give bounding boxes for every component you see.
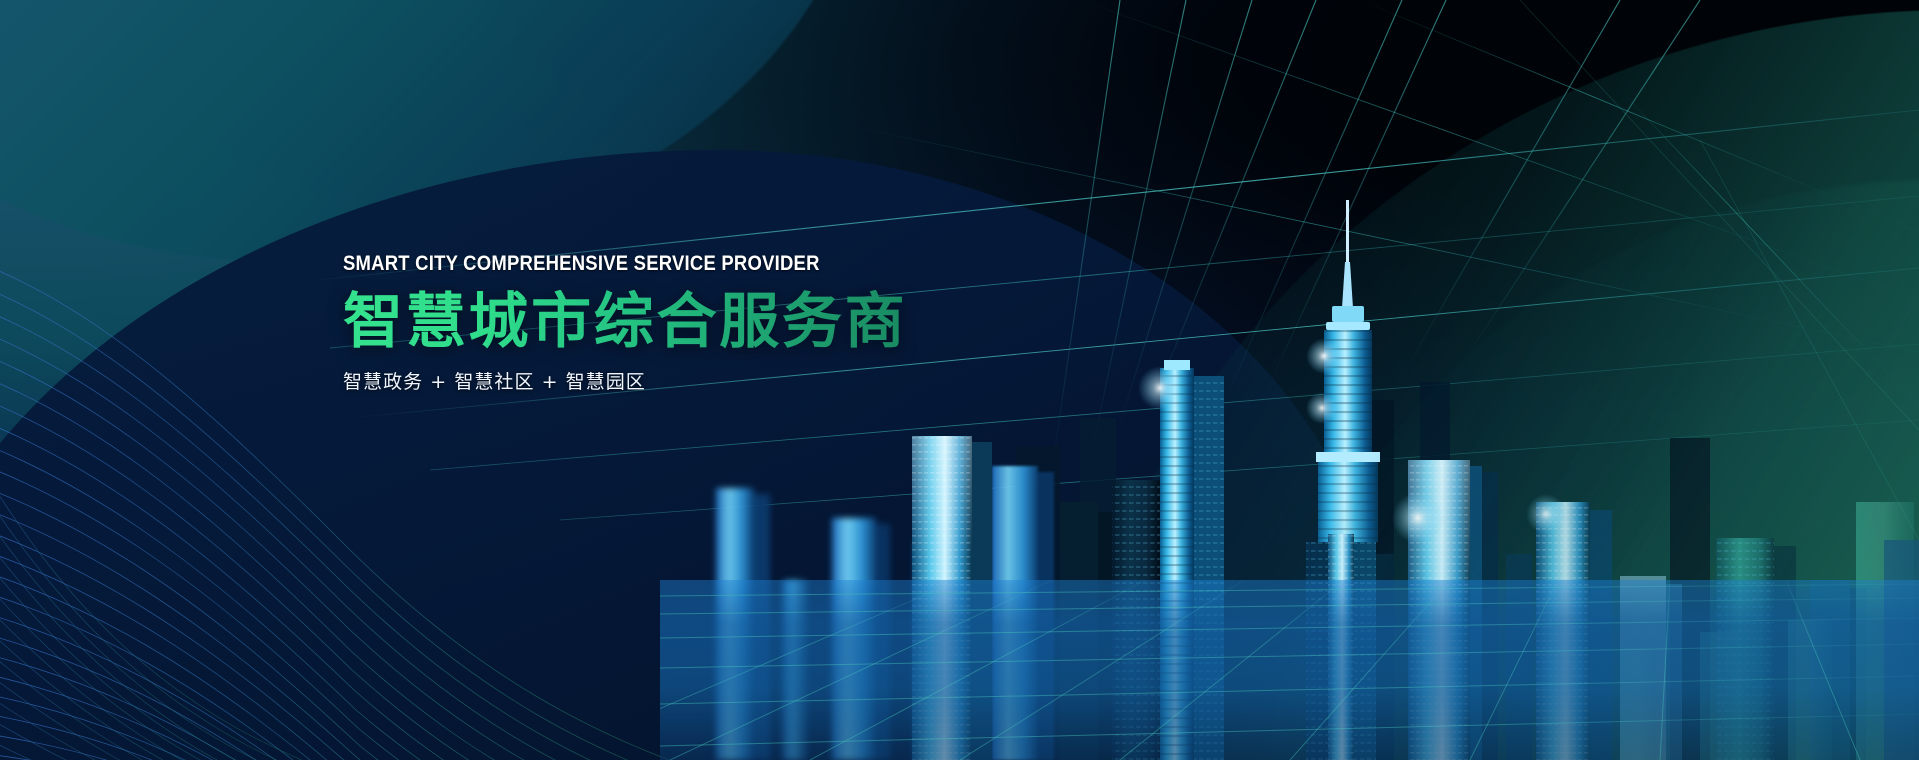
perspective-grid-floor [660, 580, 1919, 760]
banner-eyebrow-text: SMART CITY COMPREHENSIVE SERVICE PROVIDE… [343, 253, 1012, 274]
banner-subtitle: 智慧政务 + 智慧社区 + 智慧园区 [343, 371, 1103, 394]
smart-city-banner: SMART CITY COMPREHENSIVE SERVICE PROVIDE… [0, 0, 1919, 760]
banner-copy-block: SMART CITY COMPREHENSIVE SERVICE PROVIDE… [343, 253, 1103, 394]
banner-headline: 智慧城市综合服务商 [343, 290, 1103, 355]
